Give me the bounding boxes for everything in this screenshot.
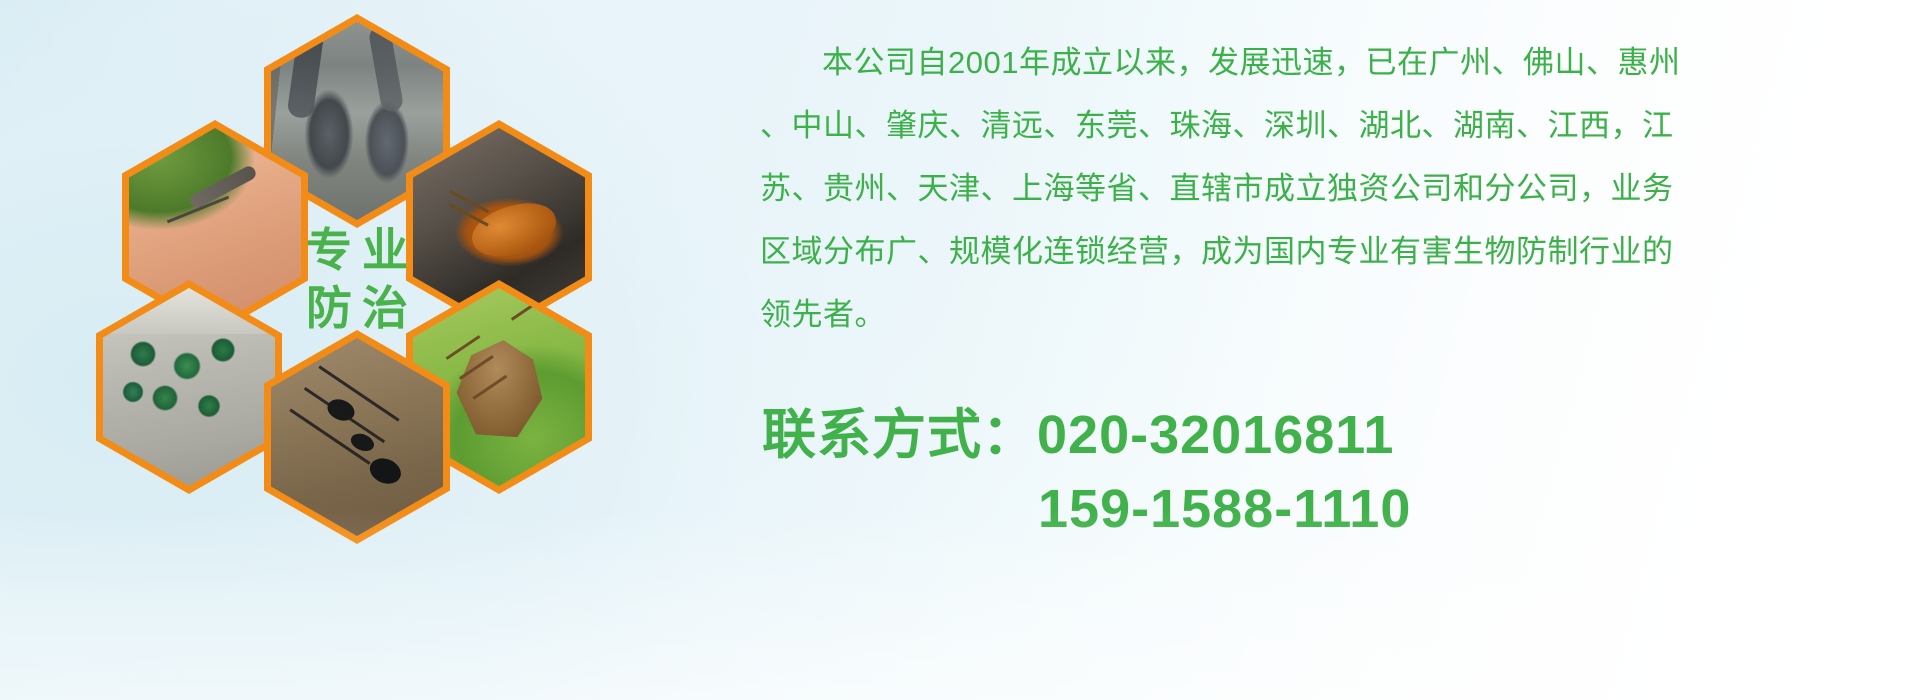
intro-line: 苏、贵州、天津、上海等省、直辖市成立独资公司和分公司，业务 [760,160,1880,217]
contact-secondary-phone[interactable]: 159-1588-1110 [762,472,1882,546]
slogan-word-bottom: 防治 [296,285,418,331]
intro-line: 领先者。 [760,286,1880,343]
intro-line: 本公司自2001年成立以来，发展迅速，已在广州、佛山、惠州 [760,34,1880,91]
intro-line: 、中山、肇庆、清远、东莞、珠海、深圳、湖北、湖南、江西，江 [760,97,1880,154]
contact-primary-phone[interactable]: 联系方式：020-32016811 [762,398,1882,472]
hexagon-photo-cluster: 专业 防治 [96,8,616,568]
promo-banner: 专业 防治 本公司自2001年成立以来，发展迅速，已在广州、佛山、惠州 、中山、… [0,0,1920,700]
flies-icon [103,288,275,486]
flies-photo-frame [103,288,275,486]
flies-photo-hexagon [96,280,282,494]
company-intro-paragraph: 本公司自2001年成立以来，发展迅速，已在广州、佛山、惠州 、中山、肇庆、清远、… [760,34,1880,349]
contact-block: 联系方式：020-32016811 159-1588-1110 [762,398,1882,546]
slogan-word-top: 专业 [296,227,418,273]
intro-line: 区域分布广、规模化连锁经营，成为国内专业有害生物防制行业的 [760,223,1880,280]
center-slogan-badge: 专业 防治 [264,172,450,386]
